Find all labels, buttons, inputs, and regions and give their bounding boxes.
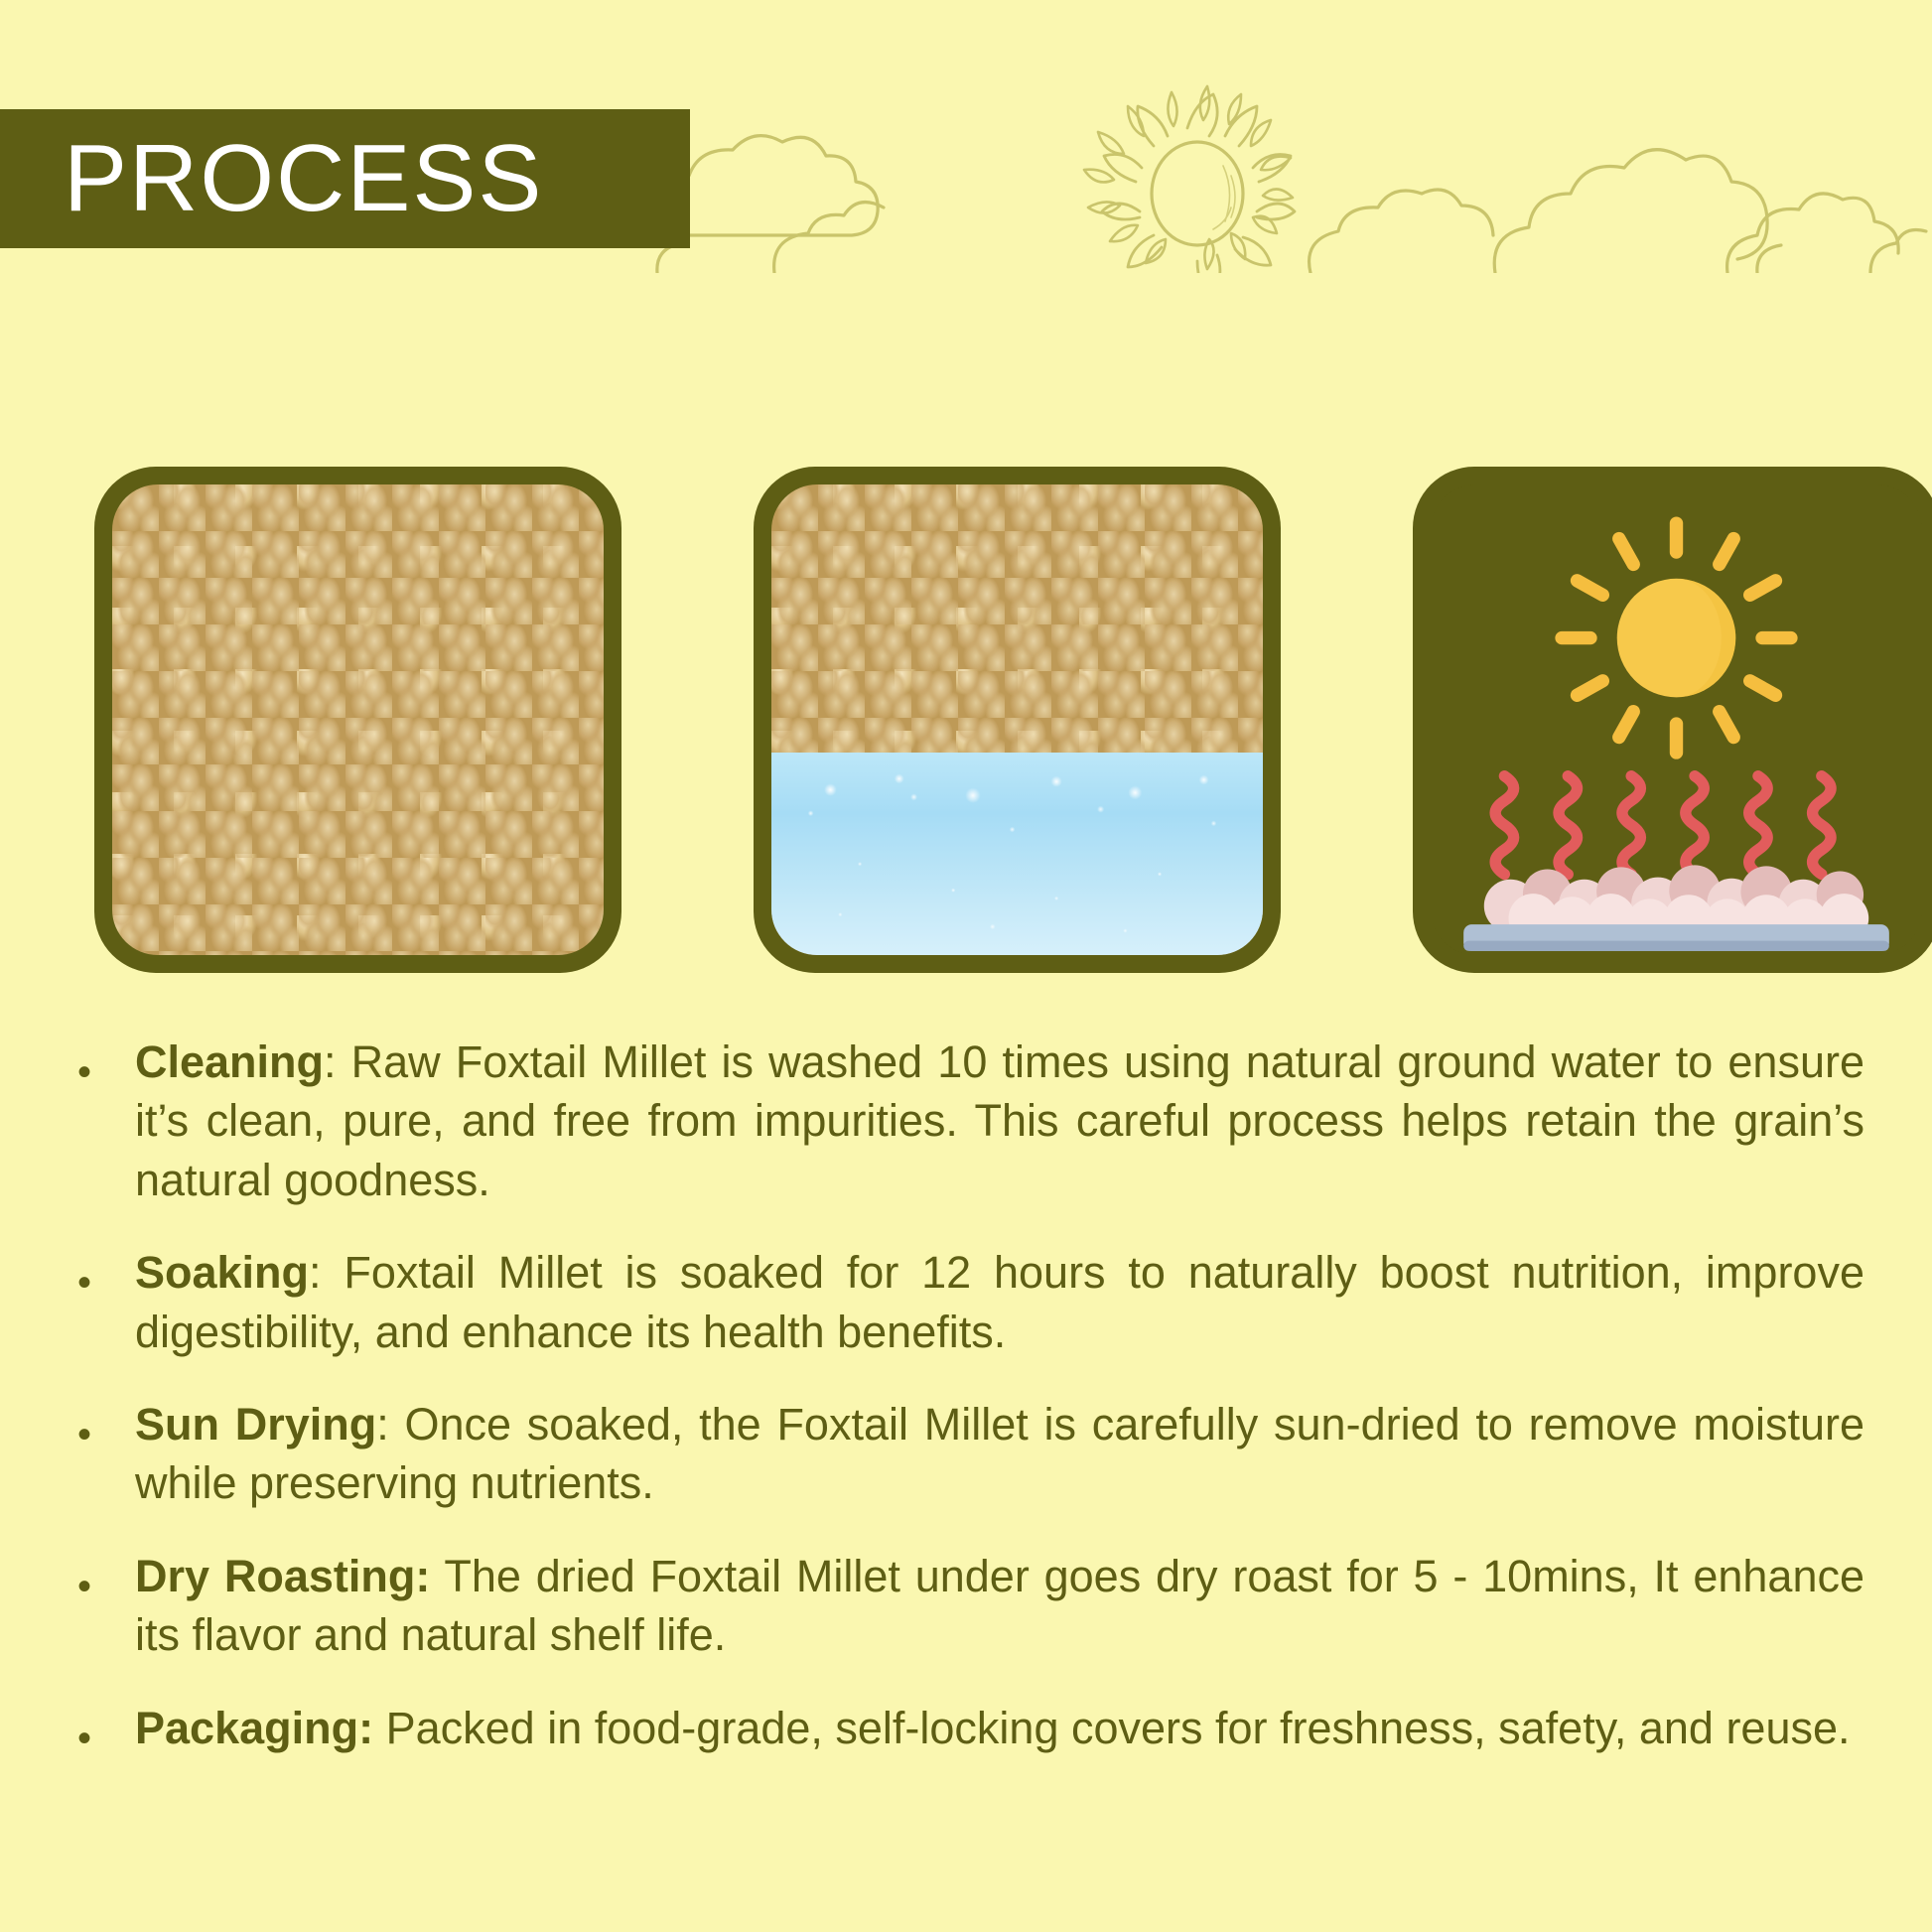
sun-drying-scene	[1431, 484, 1922, 955]
step-body: Raw Foxtail Millet is washed 10 times us…	[135, 1036, 1864, 1205]
list-item: • Dry Roasting: The dried Foxtail Millet…	[77, 1547, 1864, 1665]
tray-icon	[1463, 924, 1889, 951]
step-body: Packed in food-grade, self-locking cover…	[386, 1703, 1851, 1753]
sun-drying-card	[1413, 467, 1932, 973]
step-text: Soaking: Foxtail Millet is soaked for 12…	[135, 1243, 1864, 1361]
water-icon	[771, 753, 1263, 955]
process-image-cards	[94, 467, 1842, 973]
step-text: Sun Drying: Once soaked, the Foxtail Mil…	[135, 1395, 1864, 1513]
step-body: Foxtail Millet is soaked for 12 hours to…	[135, 1247, 1864, 1356]
bullet-icon: •	[77, 1243, 135, 1303]
step-text: Cleaning: Raw Foxtail Millet is washed 1…	[135, 1033, 1864, 1209]
bullet-icon: •	[77, 1699, 135, 1758]
bullet-icon: •	[77, 1033, 135, 1092]
list-item: • Soaking: Foxtail Millet is soaked for …	[77, 1243, 1864, 1361]
raw-millet-card	[94, 467, 621, 973]
step-label: Sun Drying	[135, 1399, 376, 1449]
step-text: Dry Roasting: The dried Foxtail Millet u…	[135, 1547, 1864, 1665]
soaking-image	[771, 484, 1263, 955]
list-item: • Sun Drying: Once soaked, the Foxtail M…	[77, 1395, 1864, 1513]
bullet-icon: •	[77, 1395, 135, 1454]
step-separator	[430, 1551, 444, 1601]
step-separator	[373, 1703, 386, 1753]
step-label: Packaging:	[135, 1703, 373, 1753]
sun-drying-image	[1431, 484, 1922, 955]
soaking-card	[754, 467, 1281, 973]
water-bubbles-icon	[771, 753, 1263, 955]
step-label: Soaking	[135, 1247, 309, 1298]
step-label: Dry Roasting:	[135, 1551, 430, 1601]
header-decoration	[635, 84, 1932, 273]
title-banner: PROCESS	[0, 109, 690, 248]
sun-drying-illustration	[1431, 484, 1922, 955]
step-separator: :	[324, 1036, 351, 1087]
list-item: • Cleaning: Raw Foxtail Millet is washed…	[77, 1033, 1864, 1209]
bullet-icon: •	[77, 1547, 135, 1606]
raw-millet-image	[112, 484, 604, 955]
step-label: Cleaning	[135, 1036, 324, 1087]
millet-grains-icon	[112, 484, 604, 955]
header: PROCESS	[0, 0, 1932, 328]
step-text: Packaging: Packed in food-grade, self-lo…	[135, 1699, 1864, 1757]
page-title: PROCESS	[64, 131, 543, 226]
step-separator: :	[309, 1247, 344, 1298]
process-steps-list: • Cleaning: Raw Foxtail Millet is washed…	[77, 1033, 1864, 1758]
step-separator: :	[376, 1399, 404, 1449]
list-item: • Packaging: Packed in food-grade, self-…	[77, 1699, 1864, 1758]
process-infographic: PROCESS	[0, 0, 1932, 1932]
